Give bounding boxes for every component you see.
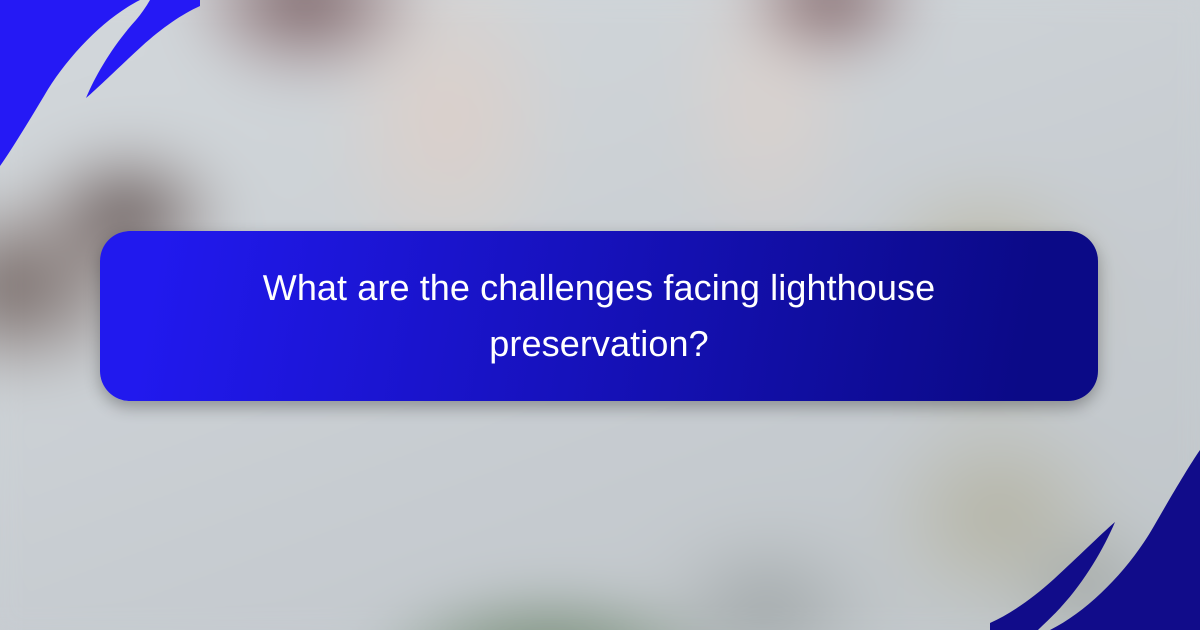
question-text: What are the challenges facing lighthous… (100, 260, 1098, 372)
question-card: What are the challenges facing lighthous… (100, 231, 1098, 401)
social-card-canvas: What are the challenges facing lighthous… (0, 0, 1200, 630)
